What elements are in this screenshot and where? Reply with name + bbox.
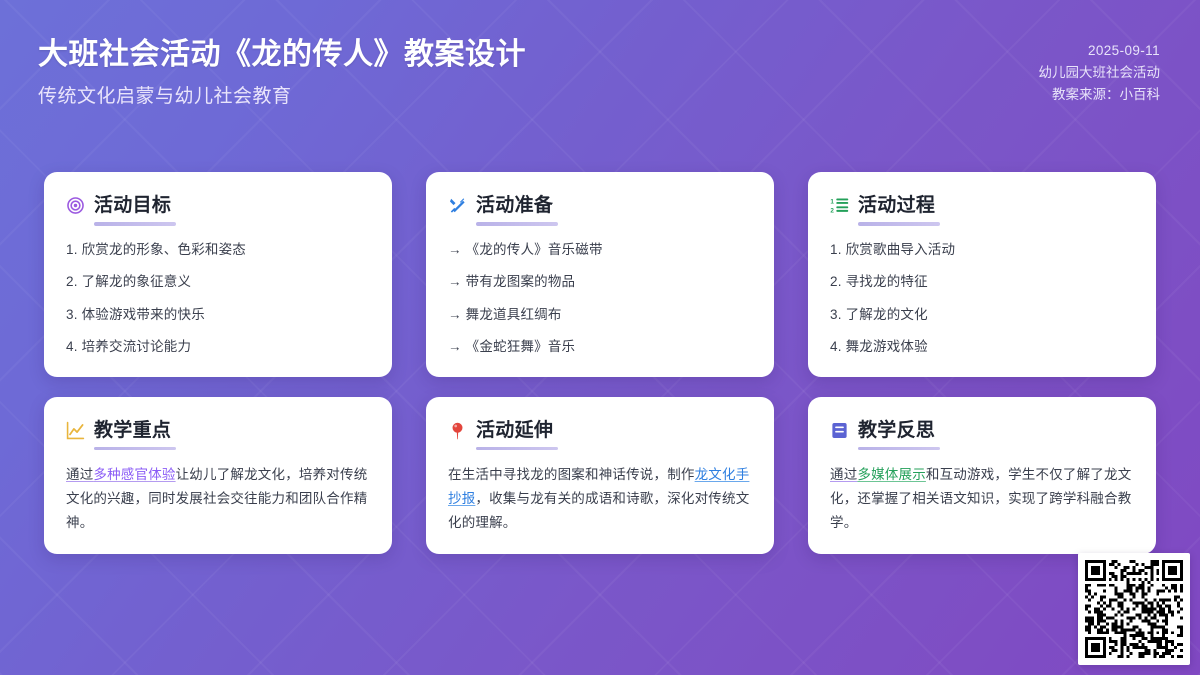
slide-canvas: 大班社会活动《龙的传人》教案设计 传统文化启蒙与幼儿社会教育 2025-09-1… (0, 0, 1200, 675)
svg-text:2: 2 (830, 208, 834, 215)
paragraph-highlight: 多种感官体验 (93, 467, 175, 482)
card-title: 教学反思 (858, 421, 935, 440)
paragraph-highlight[interactable]: 多媒体展示 (857, 467, 926, 482)
card-teaching-reflection: 教学反思通过多媒体展示和互动游戏，学生不仅了解了龙文化，还掌握了相关语文知识，实… (808, 397, 1156, 554)
list-item: → 舞龙道具红绸布 (448, 305, 752, 325)
line-chart-icon (66, 421, 85, 440)
card-grid: 活动目标1. 欣赏龙的形象、色彩和姿态2. 了解龙的象征意义3. 体验游戏带来的… (44, 172, 1156, 554)
paragraph-suffix: ，收集与龙有关的成语和诗歌，深化对传统文化的理解。 (448, 491, 749, 530)
card-list: → 《龙的传人》音乐磁带→ 带有龙图案的物品→ 舞龙道具红绸布→ 《金蛇狂舞》音… (448, 240, 752, 357)
list-item: 2. 寻找龙的特征 (830, 272, 1134, 292)
title-underline (94, 222, 176, 226)
svg-text:1: 1 (830, 199, 834, 206)
card-paragraph: 通过多媒体展示和互动游戏，学生不仅了解了龙文化，还掌握了相关语文知识，实现了跨学… (830, 463, 1134, 534)
title-block: 大班社会活动《龙的传人》教案设计 传统文化启蒙与幼儿社会教育 (38, 36, 526, 108)
card-activity-preparation: 活动准备→ 《龙的传人》音乐磁带→ 带有龙图案的物品→ 舞龙道具红绸布→ 《金蛇… (426, 172, 774, 377)
qr-code-image (1085, 560, 1183, 658)
card-header: 教学反思 (830, 421, 1134, 440)
paragraph-prefix: 通过 (66, 467, 93, 482)
card-title: 活动目标 (94, 196, 171, 215)
list-item: → 《龙的传人》音乐磁带 (448, 240, 752, 260)
list-item: 1. 欣赏歌曲导入活动 (830, 240, 1134, 260)
meta-date: 2025-09-11 (1039, 40, 1161, 62)
list-item: → 《金蛇狂舞》音乐 (448, 337, 752, 357)
list-item: 2. 了解龙的象征意义 (66, 272, 370, 292)
card-list: 1. 欣赏歌曲导入活动2. 寻找龙的特征3. 了解龙的文化4. 舞龙游戏体验 (830, 240, 1134, 357)
header: 大班社会活动《龙的传人》教案设计 传统文化启蒙与幼儿社会教育 2025-09-1… (0, 0, 1200, 140)
card-header: 12活动过程 (830, 196, 1134, 215)
qr-code[interactable] (1078, 553, 1190, 665)
card-list: 1. 欣赏龙的形象、色彩和姿态2. 了解龙的象征意义3. 体验游戏带来的快乐4.… (66, 240, 370, 357)
card-activity-process: 12活动过程1. 欣赏歌曲导入活动2. 寻找龙的特征3. 了解龙的文化4. 舞龙… (808, 172, 1156, 377)
card-title: 活动过程 (858, 196, 935, 215)
page-subtitle: 传统文化启蒙与幼儿社会教育 (38, 81, 526, 108)
card-paragraph: 在生活中寻找龙的图案和神话传说，制作龙文化手抄报，收集与龙有关的成语和诗歌，深化… (448, 463, 752, 534)
list-item: 4. 培养交流讨论能力 (66, 337, 370, 357)
numbered-list-icon: 12 (830, 196, 849, 215)
title-underline (858, 447, 940, 451)
meta-category: 幼儿园大班社会活动 (1039, 62, 1161, 84)
paragraph-prefix: 通过 (830, 467, 857, 482)
list-item: 3. 了解龙的文化 (830, 305, 1134, 325)
card-header: 教学重点 (66, 421, 370, 440)
pin-icon (448, 421, 467, 440)
book-icon (830, 421, 849, 440)
list-item: 4. 舞龙游戏体验 (830, 337, 1134, 357)
list-item: 1. 欣赏龙的形象、色彩和姿态 (66, 240, 370, 260)
card-header: 活动延伸 (448, 421, 752, 440)
target-icon (66, 196, 85, 215)
list-item: 3. 体验游戏带来的快乐 (66, 305, 370, 325)
page-title: 大班社会活动《龙的传人》教案设计 (38, 36, 526, 74)
paragraph-prefix: 在生活中寻找龙的图案和神话传说，制作 (448, 467, 695, 482)
meta-source: 教案来源：小百科 (1039, 84, 1161, 106)
card-title: 活动延伸 (476, 421, 553, 440)
title-underline (476, 447, 558, 451)
title-underline (476, 222, 558, 226)
card-teaching-focus: 教学重点通过多种感官体验让幼儿了解龙文化，培养对传统文化的兴趣，同时发展社会交往… (44, 397, 392, 554)
list-item: → 带有龙图案的物品 (448, 272, 752, 292)
title-underline (858, 222, 940, 226)
header-meta: 2025-09-11 幼儿园大班社会活动 教案来源：小百科 (1039, 40, 1161, 106)
card-activity-goals: 活动目标1. 欣赏龙的形象、色彩和姿态2. 了解龙的象征意义3. 体验游戏带来的… (44, 172, 392, 377)
card-title: 教学重点 (94, 421, 171, 440)
card-header: 活动目标 (66, 196, 370, 215)
title-underline (94, 447, 176, 451)
tools-icon (448, 196, 467, 215)
card-paragraph: 通过多种感官体验让幼儿了解龙文化，培养对传统文化的兴趣，同时发展社会交往能力和团… (66, 463, 370, 534)
card-header: 活动准备 (448, 196, 752, 215)
card-activity-extension: 活动延伸在生活中寻找龙的图案和神话传说，制作龙文化手抄报，收集与龙有关的成语和诗… (426, 397, 774, 554)
card-title: 活动准备 (476, 196, 553, 215)
